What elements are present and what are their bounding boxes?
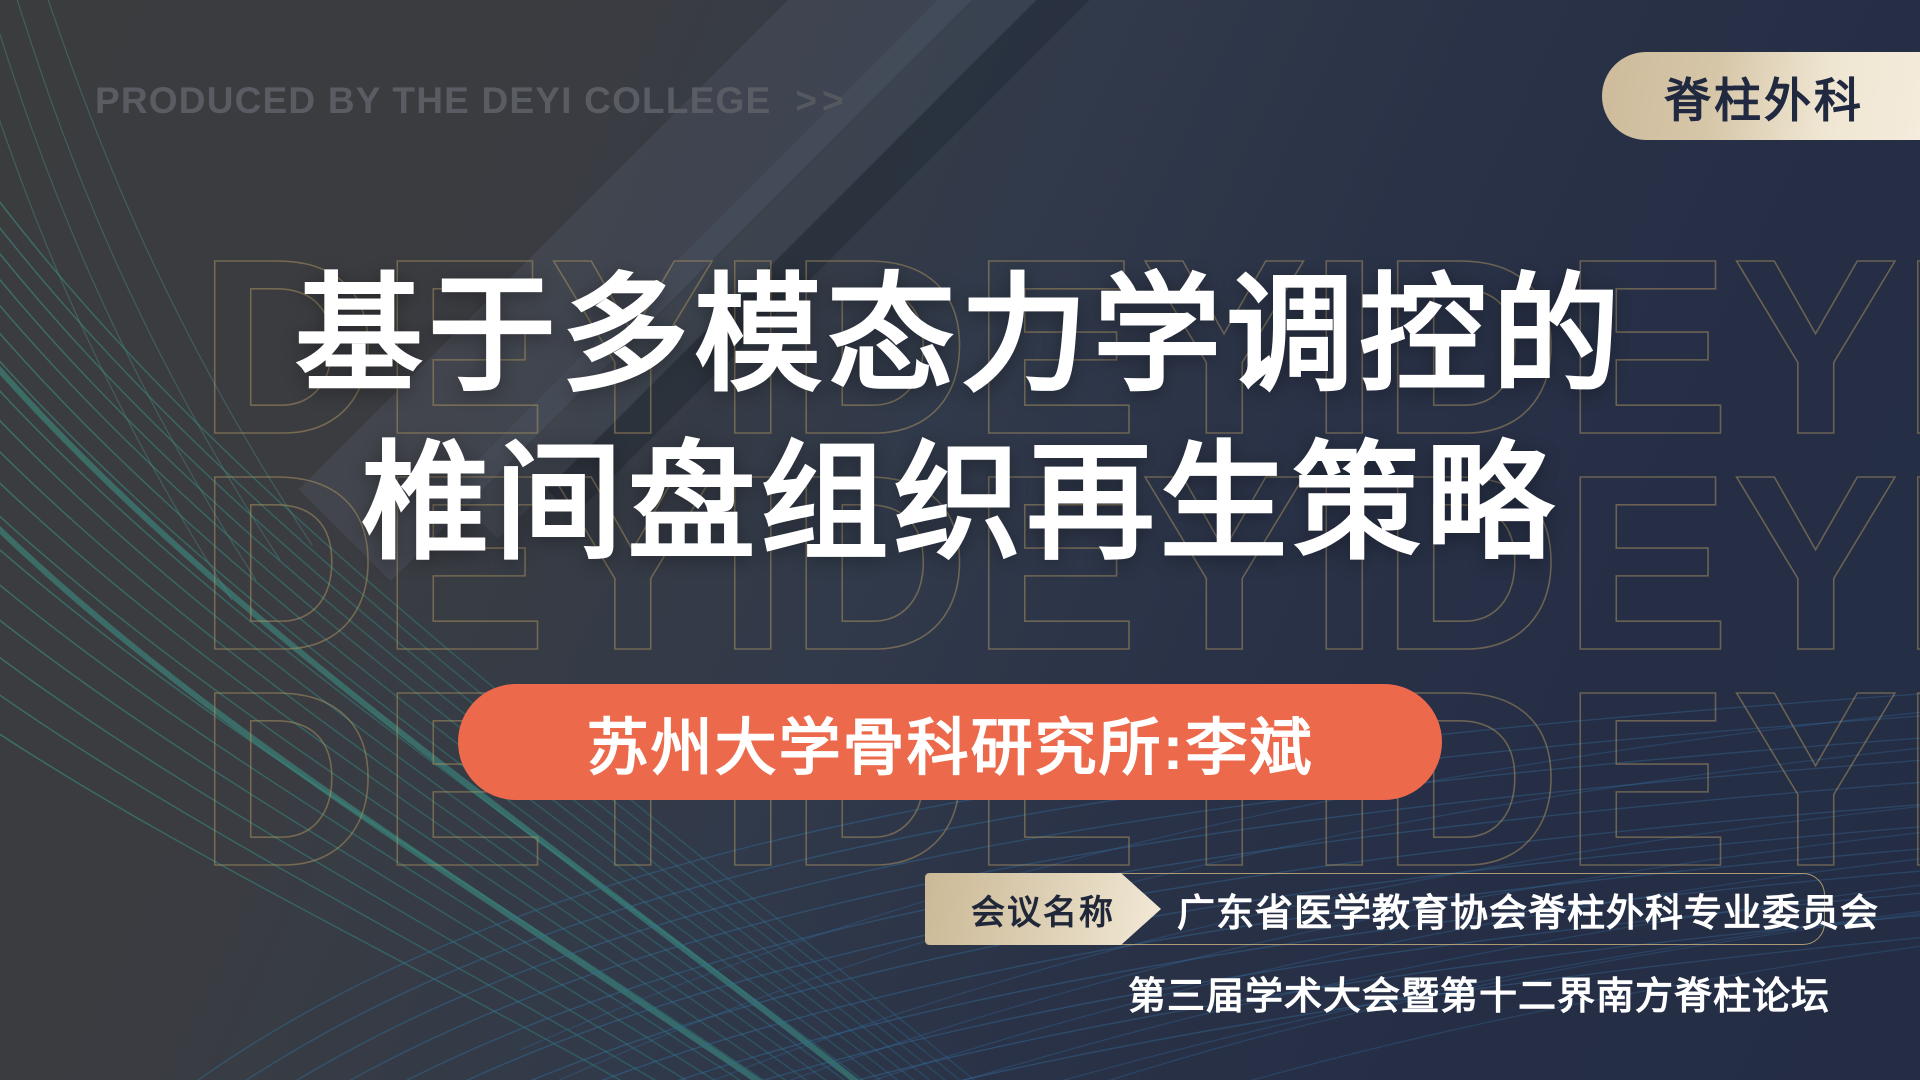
page-title-line-1: 基于多模态力学调控的	[0, 272, 1920, 400]
page-title-line-2: 椎间盘组织再生策略	[0, 440, 1920, 568]
produced-by-label: PRODUCED BY THE DEYI COLLEGE>>	[95, 80, 849, 122]
speaker-label: 苏州大学骨科研究所:李斌	[587, 697, 1314, 787]
forum-subtitle: 第三届学术大会暨第十二界南方脊柱论坛	[0, 965, 1830, 1020]
department-badge: 脊柱外科	[1602, 52, 1920, 140]
conference-name: 广东省医学教育协会脊柱外科专业委员会	[1177, 873, 1879, 945]
speaker-pill: 苏州大学骨科研究所:李斌	[458, 684, 1442, 800]
conference-name-row: 会议名称 广东省医学教育协会脊柱外科专业委员会	[925, 873, 1825, 945]
conference-tag-label: 会议名称	[971, 885, 1115, 934]
produced-by-text: PRODUCED BY THE DEYI COLLEGE	[95, 80, 771, 121]
department-badge-label: 脊柱外科	[1664, 62, 1864, 131]
poster-slide: DEYIDEYIDEYIDEYI DEYIDEYIDEYIDEYI DEYIDE…	[0, 0, 1920, 1080]
chevron-right-double-icon: >>	[795, 80, 848, 121]
conference-tag: 会议名称	[925, 873, 1161, 945]
